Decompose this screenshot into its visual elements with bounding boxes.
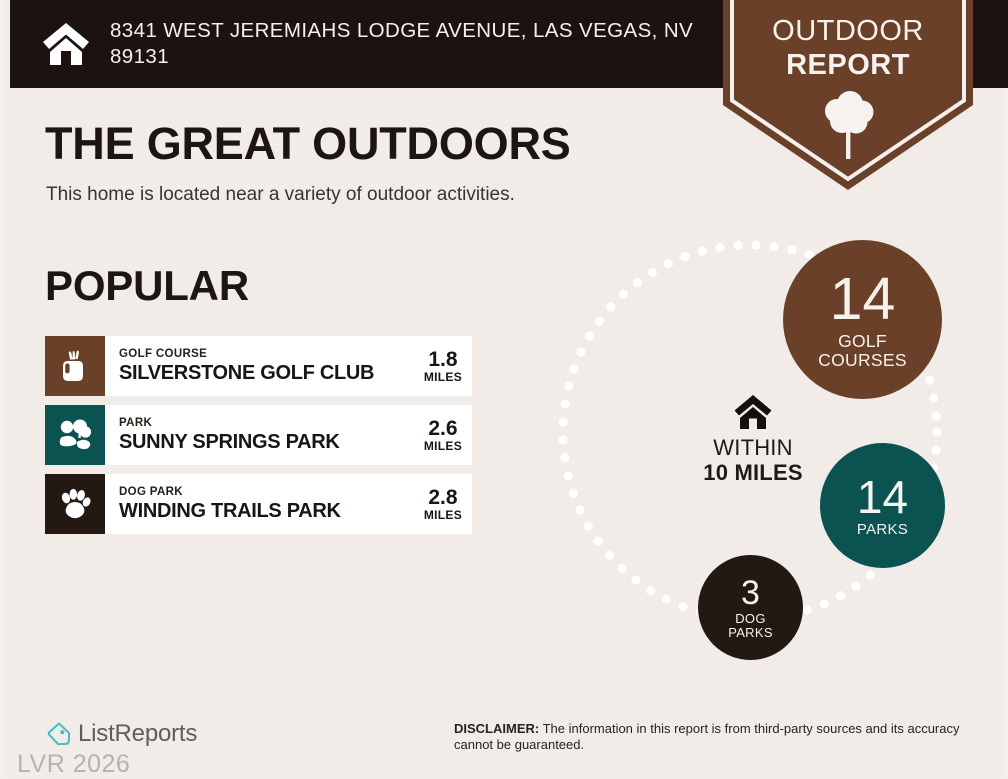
disclaimer-label: DISCLAIMER: (454, 721, 539, 736)
list-item-name: SILVERSTONE GOLF CLUB (119, 362, 374, 385)
outdoor-report-badge: OUTDOOR REPORT (723, 0, 973, 190)
property-address: 8341 WEST JEREMIAHS LODGE AVENUE, LAS VE… (110, 18, 710, 70)
list-item-category: PARK (119, 417, 340, 430)
distance-value: 2.6 (424, 418, 462, 439)
distance-value: 1.8 (424, 349, 462, 370)
report-page: 8341 WEST JEREMIAHS LODGE AVENUE, LAS VE… (0, 0, 1008, 778)
home-icon (658, 393, 848, 431)
section-title-popular: POPULAR (45, 265, 249, 307)
paw-print-icon (45, 474, 105, 534)
diagram-center: WITHIN 10 MILES (658, 393, 848, 485)
page-title: THE GREAT OUTDOORS (45, 121, 571, 166)
disclaimer: DISCLAIMER: The information in this repo… (454, 721, 974, 753)
stat-value: 3 (741, 576, 760, 610)
stat-dog-parks: 3 DOG PARKS (698, 555, 803, 660)
stat-label-line1: GOLF (838, 331, 887, 351)
center-line1: WITHIN (658, 435, 848, 460)
stat-label: GOLF COURSES (818, 332, 907, 368)
list-item-category: DOG PARK (119, 486, 341, 499)
distance-unit: MILES (424, 370, 462, 384)
distance-unit: MILES (424, 508, 462, 522)
stat-value: 14 (857, 474, 908, 520)
list-item-name: SUNNY SPRINGS PARK (119, 431, 340, 454)
listreports-house-icon (46, 721, 72, 747)
stat-golf-courses: 14 GOLF COURSES (783, 240, 942, 399)
within-10-miles-diagram: 14 GOLF COURSES 14 PARKS 3 DOG PARKS (550, 225, 980, 675)
list-item-category: GOLF COURSE (119, 348, 374, 361)
list-item[interactable]: DOG PARK WINDING TRAILS PARK 2.8 MILES (45, 474, 472, 534)
stat-label-line2: COURSES (818, 350, 907, 370)
list-item-distance: 2.8 MILES (418, 487, 462, 522)
home-icon (41, 19, 91, 69)
listreports-logo[interactable]: ListReports (46, 720, 197, 748)
footer: ListReports LVR 2026 DISCLAIMER: The inf… (5, 700, 1008, 778)
golf-bag-icon (45, 336, 105, 396)
page-subtitle: This home is located near a variety of o… (46, 184, 515, 206)
lvr-label: LVR 2026 (17, 750, 130, 779)
park-trees-icon (45, 405, 105, 465)
list-item-distance: 1.8 MILES (418, 349, 462, 384)
list-item[interactable]: GOLF COURSE SILVERSTONE GOLF CLUB 1.8 MI… (45, 336, 472, 396)
popular-list: GOLF COURSE SILVERSTONE GOLF CLUB 1.8 MI… (45, 336, 472, 543)
distance-value: 2.8 (424, 487, 462, 508)
listreports-wordmark: ListReports (78, 720, 197, 748)
list-item[interactable]: PARK SUNNY SPRINGS PARK 2.6 MILES (45, 405, 472, 465)
stat-value: 14 (830, 270, 896, 329)
center-line2: 10 MILES (658, 460, 848, 485)
list-item-name: WINDING TRAILS PARK (119, 500, 341, 523)
distance-unit: MILES (424, 439, 462, 453)
stat-label: PARKS (857, 522, 908, 537)
stat-label-line2: PARKS (728, 625, 773, 640)
list-item-distance: 2.6 MILES (418, 418, 462, 453)
stat-label: DOG PARKS (728, 612, 773, 639)
